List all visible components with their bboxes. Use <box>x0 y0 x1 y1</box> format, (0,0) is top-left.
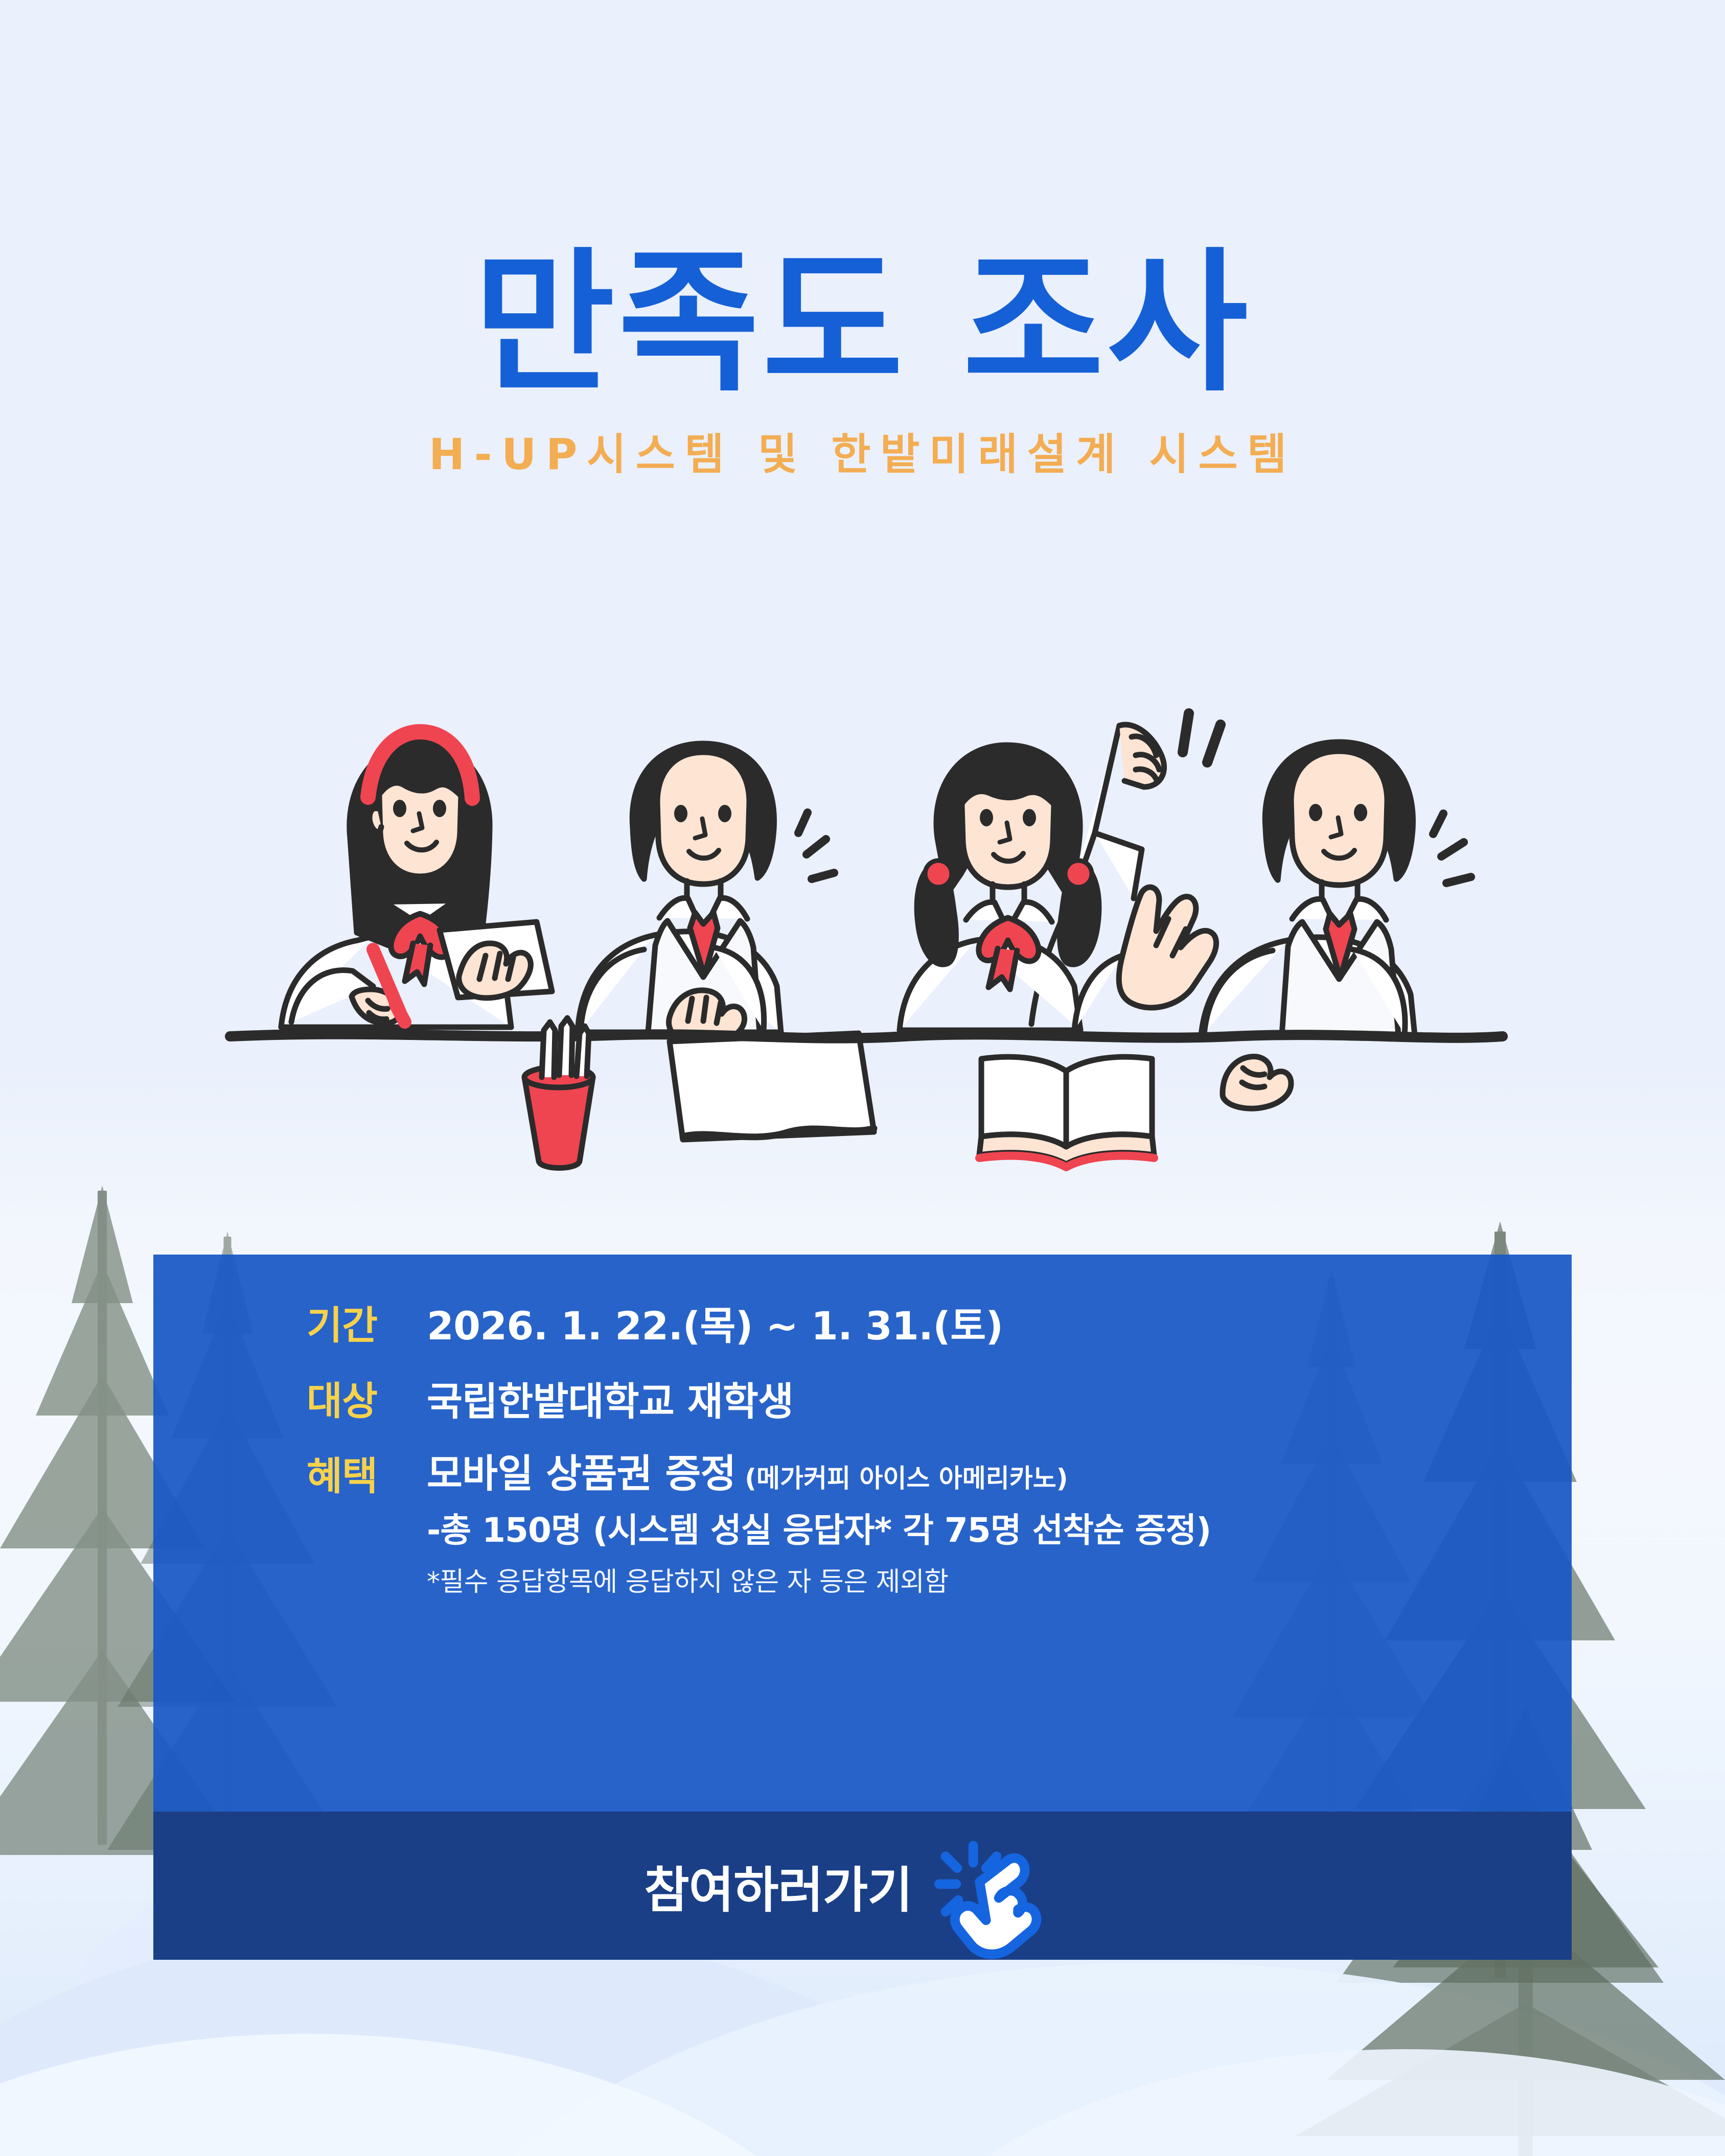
info-value-period: 2026. 1. 22.(목) ~ 1. 31.(토) <box>427 1303 1003 1349</box>
poster-header: 만족도 조사 H-UP시스템 및 한밭미래설계 시스템 <box>0 245 1725 482</box>
benefit-paren-text: (메가커피 아이스 아메리카노) <box>736 1464 1068 1493</box>
poster-root: 만족도 조사 H-UP시스템 및 한밭미래설계 시스템 <box>0 0 1725 2156</box>
page-title: 만족도 조사 <box>0 245 1725 402</box>
info-row-benefit: 혜택 모바일 상품권 증정 (메가커피 아이스 아메리카노) -총 150명 (… <box>307 1454 1536 1599</box>
students-at-desk-illustration <box>220 618 1513 1180</box>
page-subtitle: H-UP시스템 및 한밭미래설계 시스템 <box>0 420 1725 482</box>
info-value-target: 국립한밭대학교 재학생 <box>427 1379 793 1425</box>
benefit-quota-text: -총 150명 (시스템 성실 응답자* 각 75명 선착순 증정) <box>427 1510 1211 1550</box>
participate-button-label: 참여하러가기 <box>644 1850 912 1921</box>
info-label-period: 기간 <box>307 1303 427 1348</box>
info-value-benefit: 모바일 상품권 증정 (메가커피 아이스 아메리카노) <box>427 1451 1211 1497</box>
info-row-period: 기간 2026. 1. 22.(목) ~ 1. 31.(토) <box>307 1303 1536 1349</box>
info-label-benefit: 혜택 <box>307 1454 427 1498</box>
info-label-target: 대상 <box>307 1379 427 1423</box>
tap-hand-cursor-icon <box>933 1835 1061 1963</box>
info-row-target: 대상 국립한밭대학교 재학생 <box>307 1379 1536 1425</box>
info-panel: 기간 2026. 1. 22.(목) ~ 1. 31.(토) 대상 국립한밭대학… <box>153 1255 1572 1812</box>
benefit-main-text: 모바일 상품권 증정 <box>427 1451 736 1496</box>
benefit-footnote-text: *필수 응답항목에 응답하지 않은 자 등은 제외함 <box>427 1566 1211 1599</box>
participate-button[interactable]: 참여하러가기 <box>153 1812 1572 1960</box>
